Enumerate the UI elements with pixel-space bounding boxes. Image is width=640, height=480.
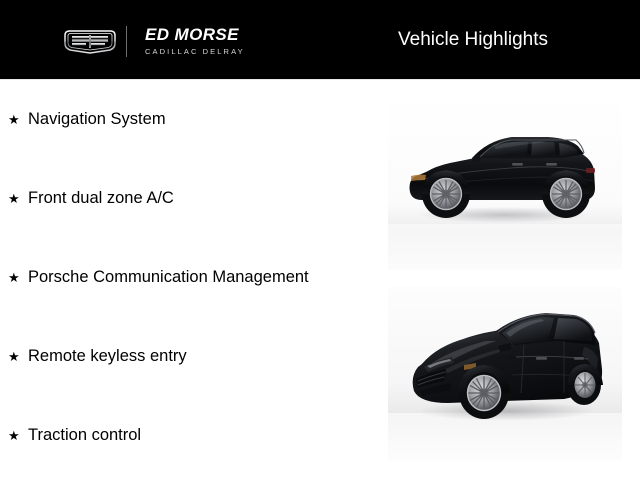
vehicle-highlights-page: ED MORSE CADILLAC DELRAY Vehicle Highlig… xyxy=(0,0,640,480)
feature-label: Front dual zone A/C xyxy=(28,190,174,207)
star-bullet-icon: ★ xyxy=(8,430,28,443)
feature-list-item: ★Front dual zone A/C xyxy=(8,190,174,207)
feature-label: Porsche Communication Management xyxy=(28,269,309,286)
page-title: Vehicle Highlights xyxy=(398,0,548,80)
cadillac-crest-icon xyxy=(62,28,118,54)
dealer-name-block: ED MORSE CADILLAC DELRAY xyxy=(145,26,245,56)
feature-label: Traction control xyxy=(28,427,141,444)
page-header: ED MORSE CADILLAC DELRAY Vehicle Highlig… xyxy=(0,0,640,80)
feature-list-item: ★Traction control xyxy=(8,427,141,444)
feature-label: Navigation System xyxy=(28,111,166,128)
page-content: ★Navigation System★Front dual zone A/C★P… xyxy=(0,81,640,480)
dealer-secondary-name: CADILLAC DELRAY xyxy=(145,48,245,56)
star-bullet-icon: ★ xyxy=(8,114,28,127)
star-bullet-icon: ★ xyxy=(8,193,28,206)
brand-divider xyxy=(126,26,127,57)
star-bullet-icon: ★ xyxy=(8,272,28,285)
dealer-primary-name: ED MORSE xyxy=(145,26,245,43)
vehicle-photo-gallery xyxy=(388,96,622,461)
feature-label: Remote keyless entry xyxy=(28,348,187,365)
dealer-brand-lockup[interactable]: ED MORSE CADILLAC DELRAY xyxy=(62,21,245,61)
star-bullet-icon: ★ xyxy=(8,351,28,364)
feature-list-item: ★Porsche Communication Management xyxy=(8,269,309,286)
vehicle-photo-side-profile[interactable] xyxy=(388,96,622,270)
feature-list-item: ★Navigation System xyxy=(8,111,166,128)
vehicle-photo-front-three-quarter[interactable] xyxy=(388,287,622,461)
feature-list-item: ★Remote keyless entry xyxy=(8,348,187,365)
